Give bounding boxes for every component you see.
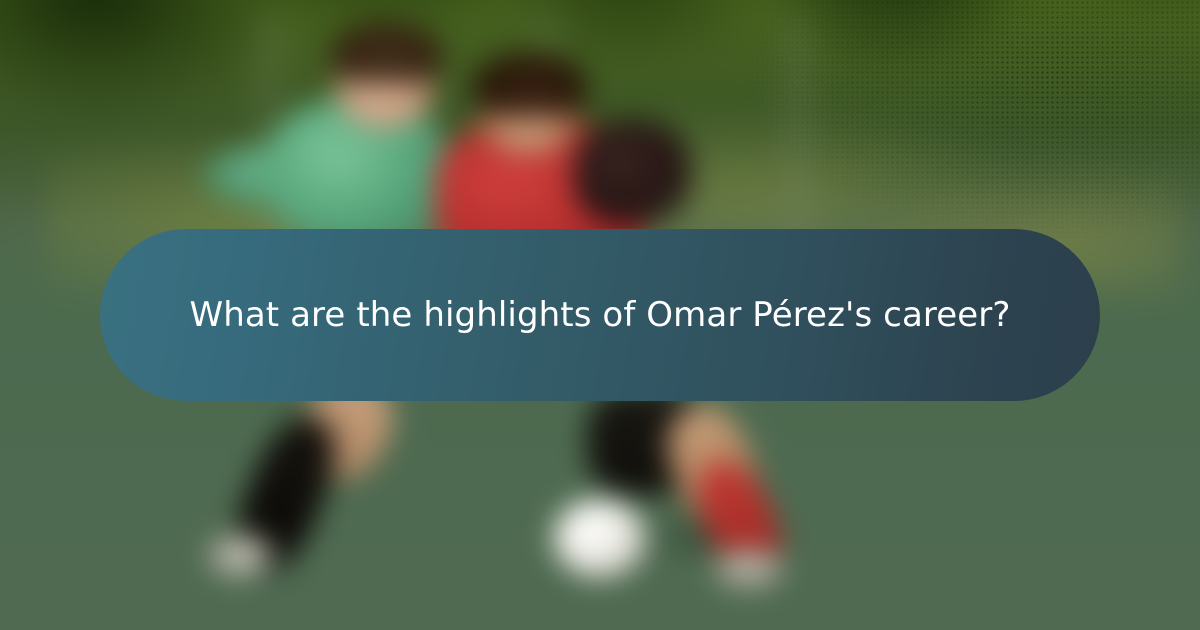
share-card-canvas: What are the highlights of Omar Pérez's … [0,0,1200,630]
overlay-container: What are the highlights of Omar Pérez's … [0,0,1200,630]
headline-pill: What are the highlights of Omar Pérez's … [100,229,1100,401]
page-title: What are the highlights of Omar Pérez's … [189,288,1010,342]
